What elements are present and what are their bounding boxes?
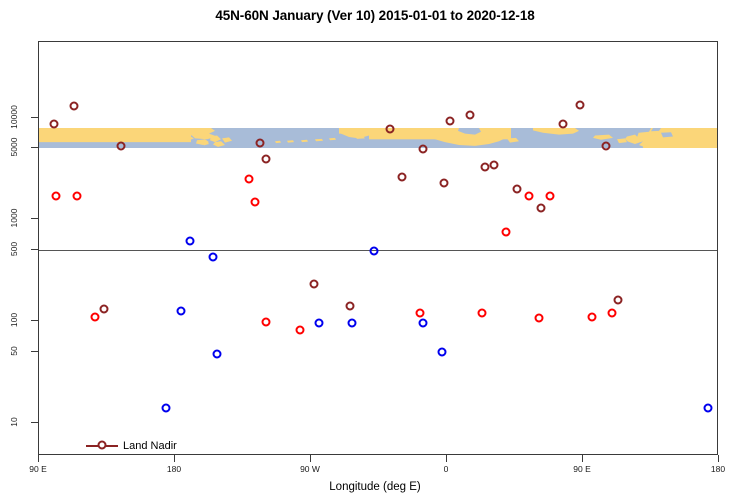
y-tick-mark [31,249,38,250]
x-tick-label: 90 W [300,464,320,474]
data-point-land-glint [477,308,486,317]
data-point-land-glint [524,192,533,201]
x-tick-label: 180 [711,464,725,474]
y-tick-label: 50 [8,337,20,365]
data-point-land-glint [261,317,270,326]
x-tick-mark [310,455,311,462]
y-tick-mark [31,351,38,352]
data-point-ocean-glint [314,319,323,328]
data-point-ocean-glint [208,252,217,261]
data-point-ocean-glint [704,403,713,412]
data-point-land-nadir [512,184,521,193]
x-tick-label: 0 [444,464,449,474]
data-point-land-glint [535,313,544,322]
data-point-land-glint [501,228,510,237]
data-point-ocean-glint [370,246,379,255]
x-tick-label: 180 [167,464,181,474]
y-tick-mark [31,422,38,423]
legend-item-land-glint: Land Glint [85,453,181,455]
chart-title: 45N-60N January (Ver 10) 2015-01-01 to 2… [0,8,750,23]
legend-marker-land-glint [85,453,119,455]
data-point-land-nadir [559,120,568,129]
data-point-land-nadir [261,155,270,164]
data-point-land-nadir [575,100,584,109]
chart-canvas: 45N-60N January (Ver 10) 2015-01-01 to 2… [0,0,750,500]
legend-label-land-glint: Land Glint [119,455,173,456]
data-point-land-glint [51,192,60,201]
world-map-svg [39,128,718,149]
data-point-land-glint [545,192,554,201]
y-tick-mark [31,147,38,148]
data-point-land-nadir [489,161,498,170]
legend-marker-land-nadir [85,438,119,453]
x-axis-title: Longitude (deg E) [0,481,750,493]
x-tick-mark [174,455,175,462]
data-point-land-glint [607,308,616,317]
data-point-ocean-glint [418,319,427,328]
data-point-ocean-glint [213,350,222,359]
plot-area: Land Nadir Land Glint Ocean Glint [38,41,718,455]
data-point-land-nadir [116,141,125,150]
y-tick-label: 10000 [8,103,20,131]
y-tick-label: 100 [8,306,20,334]
x-tick-mark [718,455,719,462]
data-point-land-nadir [613,296,622,305]
data-point-ocean-glint [186,236,195,245]
world-map-band [39,128,718,149]
x-tick-mark [582,455,583,462]
y-tick-label: 10 [8,408,20,436]
data-point-land-nadir [99,305,108,314]
y-tick-mark [31,320,38,321]
y-axis-title: N Total [0,236,3,272]
data-point-land-nadir [255,139,264,148]
x-tick-label: 90 E [29,464,47,474]
y-tick-mark [31,218,38,219]
data-point-ocean-glint [347,319,356,328]
data-point-ocean-glint [438,348,447,357]
x-tick-label: 90 E [573,464,591,474]
data-point-land-glint [415,308,424,317]
y-tick-mark [31,117,38,118]
chart-legend: Land Nadir Land Glint Ocean Glint [85,438,181,455]
data-point-land-nadir [439,178,448,187]
data-point-land-glint [245,174,254,183]
data-point-land-nadir [480,162,489,171]
y-tick-label: 1000 [8,204,20,232]
data-point-land-glint [588,312,597,321]
data-point-land-nadir [310,280,319,289]
y-tick-label: 5000 [8,133,20,161]
data-point-ocean-glint [161,403,170,412]
legend-item-land-nadir: Land Nadir [85,438,181,453]
data-point-land-nadir [69,102,78,111]
data-point-land-glint [72,192,81,201]
data-point-land-glint [296,325,305,334]
data-point-land-nadir [397,173,406,182]
data-point-ocean-glint [177,307,186,316]
data-point-land-nadir [385,125,394,134]
x-tick-mark [446,455,447,462]
x-tick-mark [38,455,39,462]
data-point-land-nadir [601,141,610,150]
data-point-land-nadir [465,111,474,120]
y-tick-label: 500 [8,235,20,263]
data-point-land-nadir [346,302,355,311]
legend-label-land-nadir: Land Nadir [119,440,177,452]
data-point-land-nadir [536,203,545,212]
data-point-land-nadir [446,116,455,125]
data-point-land-glint [251,197,260,206]
data-point-land-glint [90,312,99,321]
data-point-land-nadir [418,145,427,154]
data-point-land-nadir [50,120,59,129]
